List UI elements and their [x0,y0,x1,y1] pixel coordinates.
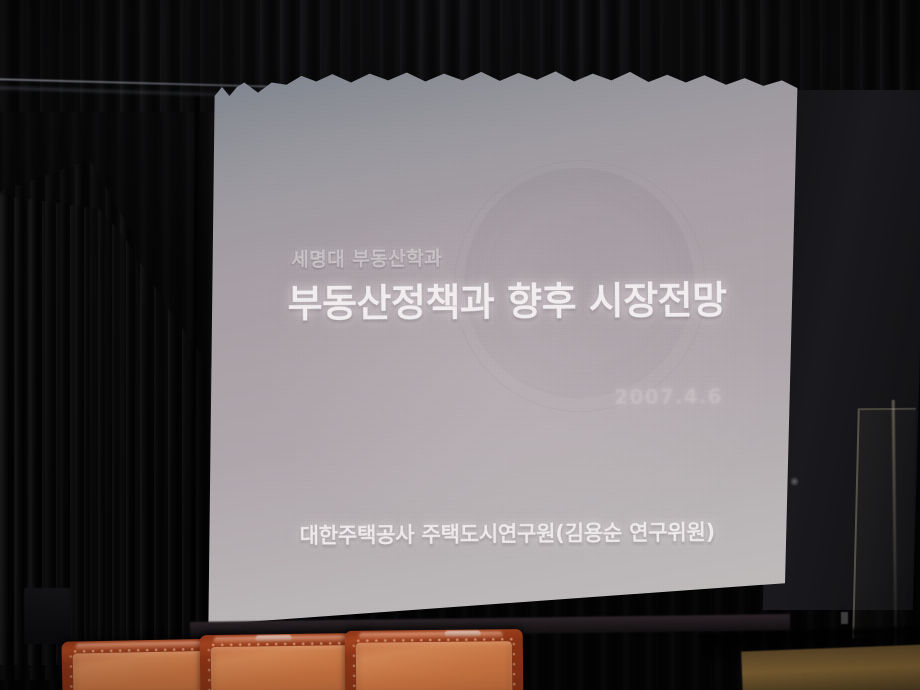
projection-screen: 세명대 부동산학과 부동산정책과 향후 시장전망 2007.4.6 대한주택공사… [196,68,816,628]
wall-light-reflection [790,476,799,487]
stage-equipment-box [24,588,70,644]
slide-date: 2007.4.6 [614,384,723,409]
slide-content: 세명대 부동산학과 부동산정책과 향후 시장전망 2007.4.6 대한주택공사… [196,68,816,628]
chair-right [345,629,524,690]
slide-kicker: 세명대 부동산학과 [291,244,442,272]
photo-canvas: { "scene": { "description": "auditorium-… [0,0,920,690]
chair-clip [256,635,292,642]
slide-headline: 부동산정책과 향후 시장전망 [287,269,726,328]
wall-panel-edge [852,408,916,639]
chair-leather-pad [211,645,366,690]
chair-clip [445,631,481,637]
stage-floor [741,644,920,690]
chair-studs-right [512,639,517,690]
chair-leather-pad [356,641,513,690]
wall-marker [841,612,848,624]
slide-presenter: 대한주택공사 주택도시연구원(김용순 연구위원) [299,516,715,550]
